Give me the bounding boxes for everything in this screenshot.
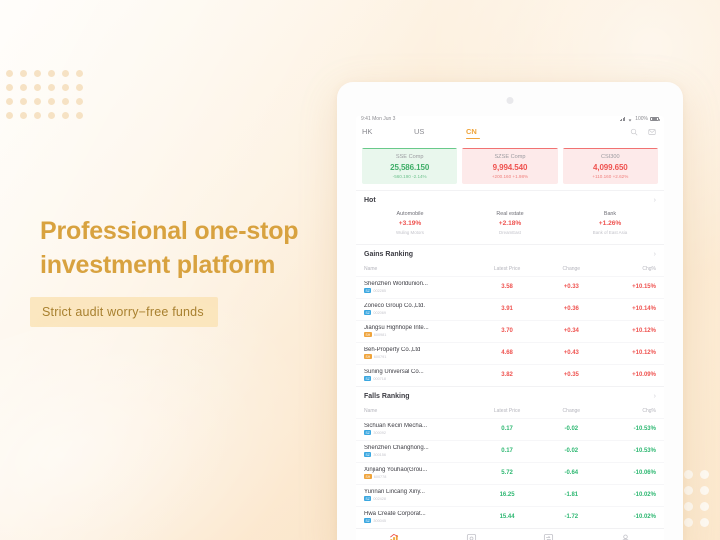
column-pct: Chg% (603, 266, 656, 272)
decorative-dot (34, 98, 41, 105)
stock-code-line: SZ300156 (364, 452, 475, 457)
decorative-dot (6, 70, 13, 77)
falls-title: Falls Ranking (364, 393, 410, 400)
gains-table: Name Latest Price Change Chg% Shenzhen W… (356, 263, 664, 386)
hot-item-pct: +3.19% (360, 220, 460, 227)
hot-section-header[interactable]: Hot › (356, 190, 664, 209)
hot-items: Automobile +3.19% Wuling Motors Real est… (356, 209, 664, 244)
decorative-dot (700, 518, 709, 527)
stock-name: Zoneco Group Co.,Ltd. (364, 303, 475, 309)
index-card-csi300[interactable]: CSI300 4,099.650 +110.160 +2.62% (563, 148, 658, 184)
stock-code-line: SZ300092 (364, 430, 475, 435)
decorative-dot (48, 112, 55, 119)
decorative-dot (34, 84, 41, 91)
hot-item-real-estate[interactable]: Real estate +2.18% DreamEast (460, 211, 560, 235)
column-change: Change (539, 408, 603, 414)
nav-item-me[interactable]: Me (587, 533, 664, 540)
column-name: Name (364, 408, 475, 414)
cell-latest-price: 5.72 (475, 470, 539, 476)
cell-name: Sichuan Kecin Mecha...SZ300092 (364, 423, 475, 436)
table-row[interactable]: Beh-Property Co.,LtdSH6007914.68+0.43+10… (356, 342, 664, 364)
hot-title: Hot (364, 197, 376, 204)
stock-name: Beh-Property Co.,Ltd (364, 347, 475, 353)
gains-title: Gains Ranking (364, 251, 413, 258)
hot-item-bank[interactable]: Bank +1.26% Bank of East Asia (560, 211, 660, 235)
stock-code: 300156 (373, 453, 386, 457)
decorative-dot (62, 84, 69, 91)
table-row[interactable]: Zoneco Group Co.,Ltd.SZ0020693.91+0.36+1… (356, 298, 664, 320)
cell-name: Shenzhen Changhong...SZ300156 (364, 445, 475, 458)
index-change: -560.190 -2.14% (366, 174, 453, 179)
hot-item-sub: Wuling Motors (360, 230, 460, 235)
cell-chg-pct: -10.06% (603, 470, 656, 476)
cell-change: +0.34 (539, 328, 603, 334)
index-name: SSE Comp (366, 154, 453, 160)
index-change: +200.160 +1.98% (466, 174, 553, 179)
stock-code: 600778 (374, 475, 387, 479)
cell-change: +0.35 (539, 372, 603, 378)
cell-change: -1.81 (539, 492, 603, 498)
cell-name: Beh-Property Co.,LtdSH600791 (364, 347, 475, 360)
exchange-badge: SZ (364, 288, 371, 293)
decorative-dot (34, 70, 41, 77)
exchange-badge: SZ (364, 452, 371, 457)
promo-headline: Professional one-stop investment platfor… (40, 215, 360, 283)
index-value: 9,994.540 (466, 163, 553, 172)
bottom-navigation: Quotes Watchlists (356, 528, 664, 540)
exchange-badge: SZ (364, 376, 371, 381)
stock-code: 002428 (373, 497, 386, 501)
cell-change: -0.02 (539, 426, 603, 432)
cell-chg-pct: +10.12% (603, 350, 656, 356)
index-value: 4,099.650 (567, 163, 654, 172)
cell-name: Xinjiang Youhao(Grou...SH600778 (364, 467, 475, 480)
exchange-badge: SZ (364, 430, 371, 435)
cell-latest-price: 3.70 (475, 328, 539, 334)
cell-chg-pct: -10.53% (603, 426, 656, 432)
decorative-dot (48, 98, 55, 105)
gains-table-header: Name Latest Price Change Chg% (356, 263, 664, 276)
cell-change: -0.64 (539, 470, 603, 476)
hot-item-sub: DreamEast (460, 230, 560, 235)
decorative-dot (700, 486, 709, 495)
table-row[interactable]: Suning Universal Co...SZ0007183.82+0.35+… (356, 364, 664, 386)
decorative-dot (6, 112, 13, 119)
gains-section-header[interactable]: Gains Ranking › (356, 244, 664, 263)
decorative-dot (700, 470, 709, 479)
index-cards: SSE Comp 25,586.150 -560.190 -2.14% SZSE… (356, 143, 664, 190)
promo-subline-badge: Strict audit worry−free funds (30, 297, 218, 327)
table-row[interactable]: Sichuan Kecin Mecha...SZ3000920.17-0.02-… (356, 418, 664, 440)
decorative-dot (76, 98, 83, 105)
stock-code-line: SH600981 (364, 332, 475, 337)
cell-change: +0.33 (539, 284, 603, 290)
cell-chg-pct: +10.15% (603, 284, 656, 290)
cell-name: Yunnan Lincang Xiny...SZ002428 (364, 489, 475, 502)
promo-banner: Professional one-stop investment platfor… (0, 0, 720, 540)
falls-rows: Sichuan Kecin Mecha...SZ3000920.17-0.02-… (356, 418, 664, 528)
index-name: SZSE Comp (466, 154, 553, 160)
falls-table-header: Name Latest Price Change Chg% (356, 405, 664, 418)
decorative-dot (6, 84, 13, 91)
hot-item-sub: Bank of East Asia (560, 230, 660, 235)
hot-item-pct: +1.26% (560, 220, 660, 227)
stock-name: Yunnan Lincang Xiny... (364, 489, 475, 495)
decorative-dot (76, 70, 83, 77)
front-camera-icon (507, 97, 514, 104)
decorative-dot (34, 112, 41, 119)
exchange-icon (543, 533, 554, 540)
decorative-dot (62, 98, 69, 105)
stock-code: 300045 (373, 519, 386, 523)
wifi-icon (627, 117, 633, 122)
nav-item-trading[interactable]: Trading (510, 533, 587, 540)
nav-item-watchlists[interactable]: Watchlists (433, 533, 510, 540)
table-row[interactable]: Hwa Create Corporat...SZ30004515.44-1.72… (356, 506, 664, 528)
stock-code-line: SZ000718 (364, 376, 475, 381)
table-row[interactable]: Shenzhen Changhong...SZ3001560.17-0.02-1… (356, 440, 664, 462)
person-icon (620, 533, 631, 540)
cell-latest-price: 0.17 (475, 448, 539, 454)
cell-change: -0.02 (539, 448, 603, 454)
stock-code: 600981 (374, 333, 387, 337)
gains-rows: Shenzhen Worldunion...SZ0022853.58+0.33+… (356, 276, 664, 386)
cell-chg-pct: -10.53% (603, 448, 656, 454)
stock-code: 300092 (373, 431, 386, 435)
hot-item-automobile[interactable]: Automobile +3.19% Wuling Motors (360, 211, 460, 235)
decorative-dot (76, 112, 83, 119)
signal-icon (620, 117, 626, 121)
cell-latest-price: 4.68 (475, 350, 539, 356)
column-pct: Chg% (603, 408, 656, 414)
cell-latest-price: 3.82 (475, 372, 539, 378)
decorative-dot-grid-top-left (6, 70, 90, 126)
stock-code: 000718 (373, 377, 386, 381)
table-row[interactable]: Xinjiang Youhao(Grou...SH6007785.72-0.64… (356, 462, 664, 484)
falls-table: Name Latest Price Change Chg% Sichuan Ke… (356, 405, 664, 528)
column-name: Name (364, 266, 475, 272)
exchange-badge: SZ (364, 496, 371, 501)
market-tab-bar: HK US CN (356, 122, 664, 143)
tab-us[interactable]: US (414, 125, 466, 139)
table-row[interactable]: Shenzhen Worldunion...SZ0022853.58+0.33+… (356, 276, 664, 298)
falls-section-header[interactable]: Falls Ranking › (356, 386, 664, 405)
chevron-right-icon[interactable]: › (654, 197, 656, 204)
message-icon[interactable] (648, 128, 656, 136)
decorative-dot (48, 84, 55, 91)
chevron-right-icon[interactable]: › (654, 251, 656, 258)
stock-name: Suning Universal Co... (364, 369, 475, 375)
stock-name: Hwa Create Corporat... (364, 511, 475, 517)
column-price: Latest Price (475, 408, 539, 414)
cell-name: Suning Universal Co...SZ000718 (364, 369, 475, 382)
nav-item-quotes[interactable]: Quotes (356, 533, 433, 540)
decorative-dot (684, 470, 693, 479)
decorative-dot (700, 502, 709, 511)
exchange-badge: SH (364, 332, 372, 337)
stock-code: 002069 (373, 311, 386, 315)
bar-chart-icon (389, 533, 400, 540)
cell-change: +0.43 (539, 350, 603, 356)
column-price: Latest Price (475, 266, 539, 272)
promo-subline: Strict audit worry−free funds (42, 305, 204, 319)
cell-name: Shenzhen Worldunion...SZ002285 (364, 281, 475, 294)
stock-name: Shenzhen Changhong... (364, 445, 475, 451)
decorative-dot (48, 70, 55, 77)
decorative-dot (20, 98, 27, 105)
decorative-dot (62, 70, 69, 77)
hot-item-name: Bank (560, 211, 660, 217)
exchange-badge: SZ (364, 310, 371, 315)
exchange-badge: SZ (364, 518, 371, 523)
stock-code: 600791 (374, 355, 387, 359)
stock-name: Jiangsu Highhope Inte... (364, 325, 475, 331)
stock-code-line: SH600778 (364, 474, 475, 479)
decorative-dot (684, 502, 693, 511)
battery-icon (650, 117, 659, 122)
index-card-sse[interactable]: SSE Comp 25,586.150 -560.190 -2.14% (362, 148, 457, 184)
table-row[interactable]: Yunnan Lincang Xiny...SZ00242816.25-1.81… (356, 484, 664, 506)
index-name: CSI300 (567, 154, 654, 160)
decorative-dot (62, 112, 69, 119)
cell-latest-price: 0.17 (475, 426, 539, 432)
cell-chg-pct: -10.02% (603, 514, 656, 520)
cell-change: -1.72 (539, 514, 603, 520)
cell-latest-price: 3.58 (475, 284, 539, 290)
stock-name: Sichuan Kecin Mecha... (364, 423, 475, 429)
cell-chg-pct: -10.02% (603, 492, 656, 498)
tab-hk[interactable]: HK (362, 125, 414, 139)
app-screen: 9:41 Mon Jun 3 100% HK US CN (356, 116, 664, 540)
index-value: 25,586.150 (366, 163, 453, 172)
stock-code-line: SZ300045 (364, 518, 475, 523)
stock-code-line: SZ002069 (364, 310, 475, 315)
cell-change: +0.36 (539, 306, 603, 312)
cell-name: Hwa Create Corporat...SZ300045 (364, 511, 475, 524)
cell-name: Jiangsu Highhope Inte...SH600981 (364, 325, 475, 338)
cell-chg-pct: +10.09% (603, 372, 656, 378)
column-change: Change (539, 266, 603, 272)
search-icon[interactable] (630, 128, 638, 136)
stock-code-line: SZ002428 (364, 496, 475, 501)
stock-name: Xinjiang Youhao(Grou... (364, 467, 475, 473)
hot-item-name: Automobile (360, 211, 460, 217)
index-change: +110.160 +2.62% (567, 174, 654, 179)
decorative-dot (20, 112, 27, 119)
decorative-dot (6, 98, 13, 105)
stock-name: Shenzhen Worldunion... (364, 281, 475, 287)
star-square-icon (466, 533, 477, 540)
table-row[interactable]: Jiangsu Highhope Inte...SH6009813.70+0.3… (356, 320, 664, 342)
exchange-badge: SH (364, 354, 372, 359)
stock-code-line: SZ002285 (364, 288, 475, 293)
cell-latest-price: 16.25 (475, 492, 539, 498)
stock-code-line: SH600791 (364, 354, 475, 359)
tablet-device: 9:41 Mon Jun 3 100% HK US CN (337, 82, 683, 540)
cell-latest-price: 3.91 (475, 306, 539, 312)
cell-chg-pct: +10.14% (603, 306, 656, 312)
exchange-badge: SH (364, 474, 372, 479)
chevron-right-icon[interactable]: › (654, 393, 656, 400)
decorative-dot (684, 518, 693, 527)
index-card-szse[interactable]: SZSE Comp 9,994.540 +200.160 +1.98% (462, 148, 557, 184)
cell-latest-price: 15.44 (475, 514, 539, 520)
cell-name: Zoneco Group Co.,Ltd.SZ002069 (364, 303, 475, 316)
stock-code: 002285 (373, 289, 386, 293)
cell-chg-pct: +10.12% (603, 328, 656, 334)
decorative-dot (76, 84, 83, 91)
decorative-dot (20, 84, 27, 91)
tab-cn[interactable]: CN (466, 125, 518, 139)
hot-item-name: Real estate (460, 211, 560, 217)
decorative-dot (684, 486, 693, 495)
hot-item-pct: +2.18% (460, 220, 560, 227)
decorative-dot (20, 70, 27, 77)
